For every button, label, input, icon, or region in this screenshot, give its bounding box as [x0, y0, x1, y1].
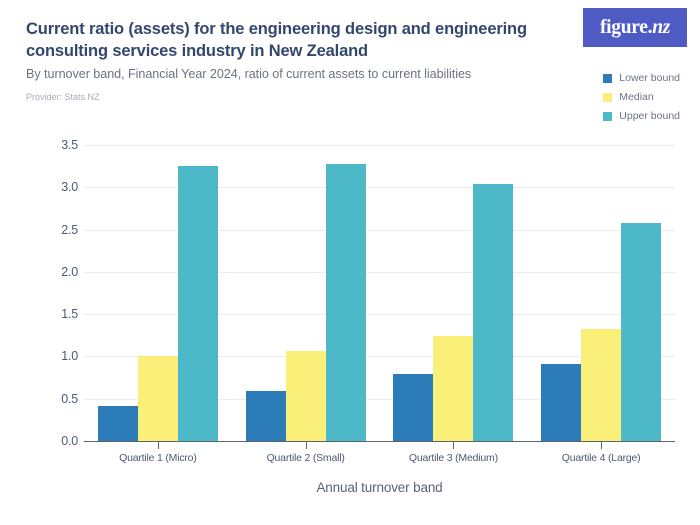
x-axis-tick-mark [306, 441, 307, 449]
x-axis-tick-mark [601, 441, 602, 449]
x-axis-tick-mark [158, 441, 159, 449]
bar[interactable] [246, 391, 286, 441]
plot-wrapper: 0.00.51.01.52.02.53.03.5 Annual turnover… [0, 0, 700, 525]
bar[interactable] [178, 166, 218, 441]
x-axis-tick-mark [453, 441, 454, 449]
bar[interactable] [581, 329, 621, 441]
bar[interactable] [98, 406, 138, 441]
x-axis-title: Annual turnover band [84, 480, 675, 495]
x-axis-tick-label: Quartile 3 (Medium) [409, 452, 498, 464]
y-axis-tick-label: 3.5 [20, 138, 78, 152]
x-axis-tick-label: Quartile 4 (Large) [562, 452, 641, 464]
x-axis-tick-label: Quartile 1 (Micro) [119, 452, 197, 464]
y-axis-tick-label: 1.0 [20, 349, 78, 363]
y-axis-tick-label: 0.0 [20, 434, 78, 448]
y-axis-tick-label: 2.5 [20, 223, 78, 237]
y-axis-tick-label: 2.0 [20, 265, 78, 279]
plot-area: Annual turnover band Quartile 1 (Micro)Q… [84, 145, 675, 441]
bar[interactable] [286, 351, 326, 441]
chart-page: Current ratio (assets) for the engineeri… [0, 0, 700, 525]
bar[interactable] [326, 164, 366, 441]
bars-layer [84, 145, 675, 441]
bar[interactable] [621, 223, 661, 441]
bar[interactable] [138, 356, 178, 441]
bar[interactable] [541, 364, 581, 441]
bar[interactable] [433, 336, 473, 441]
y-axis-tick-label: 1.5 [20, 307, 78, 321]
x-axis-tick-label: Quartile 2 (Small) [267, 452, 345, 464]
y-axis-tick-label: 0.5 [20, 392, 78, 406]
bar[interactable] [473, 184, 513, 441]
y-axis-tick-label: 3.0 [20, 180, 78, 194]
bar[interactable] [393, 374, 433, 441]
